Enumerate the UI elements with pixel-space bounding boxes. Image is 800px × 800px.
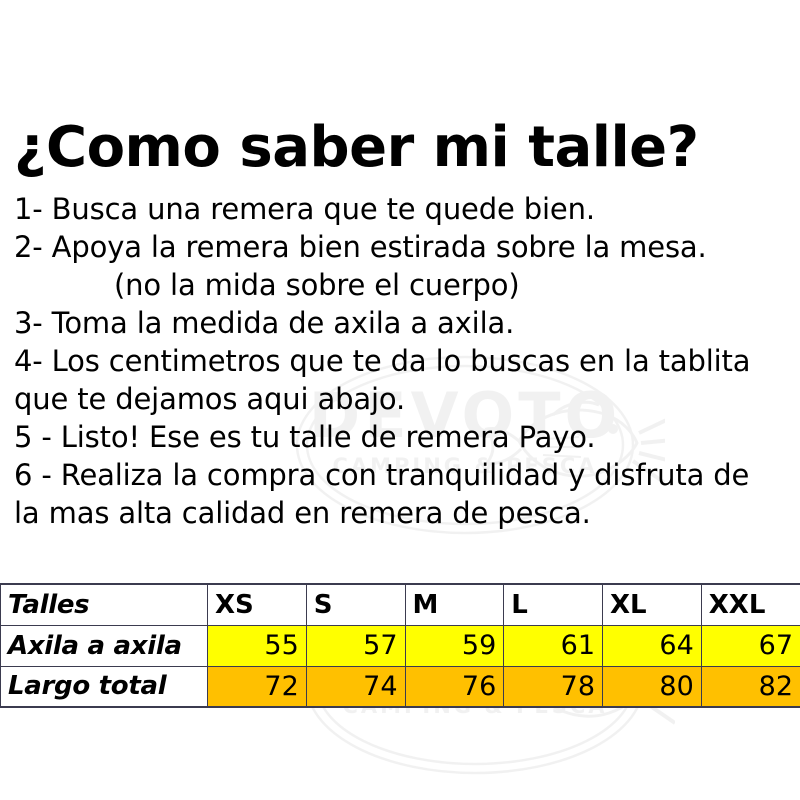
- table-row-label: Largo total: [1, 666, 208, 707]
- table-cell-value: 57: [306, 625, 405, 666]
- table-row-label: Axila a axila: [1, 625, 208, 666]
- table-header-size-xl: XL: [603, 584, 702, 625]
- table-cell-value: 64: [603, 625, 702, 666]
- table-header-row: TallesXSSMLXLXXL: [1, 584, 800, 625]
- table-header-label: Talles: [1, 584, 208, 625]
- table-cell-value: 78: [504, 666, 603, 707]
- instruction-line-1: 1- Busca una remera que te quede bien.: [14, 190, 794, 228]
- table-header-size-l: L: [504, 584, 603, 625]
- table-header-size-m: M: [405, 584, 504, 625]
- instruction-line-7: 5 - Listo! Ese es tu talle de remera Pay…: [14, 418, 794, 456]
- table-cell-value: 61: [504, 625, 603, 666]
- table-cell-value: 82: [701, 666, 800, 707]
- table-header-size-xxl: XXL: [701, 584, 800, 625]
- size-chart-table: TallesXSSMLXLXXLAxila a axila55575961646…: [0, 583, 800, 708]
- table-cell-value: 55: [208, 625, 307, 666]
- table-cell-value: 80: [603, 666, 702, 707]
- instructions-list: 1- Busca una remera que te quede bien.2-…: [14, 190, 794, 532]
- table-row: Largo total727476788082: [1, 666, 800, 707]
- table-row: Axila a axila555759616467: [1, 625, 800, 666]
- table-cell-value: 76: [405, 666, 504, 707]
- size-guide-page: DEVOTO CAMPING & PESCA DEVOTO C: [0, 0, 800, 800]
- table-cell-value: 72: [208, 666, 307, 707]
- instruction-line-5: 4- Los centimetros que te da lo buscas e…: [14, 342, 794, 380]
- instruction-line-8: 6 - Realiza la compra con tranquilidad y…: [14, 456, 794, 494]
- instruction-line-4: 3- Toma la medida de axila a axila.: [14, 304, 794, 342]
- instruction-line-6: que te dejamos aqui abajo.: [14, 380, 794, 418]
- table-cell-value: 67: [701, 625, 800, 666]
- size-chart-body: TallesXSSMLXLXXLAxila a axila55575961646…: [1, 584, 800, 707]
- table-header-size-xs: XS: [208, 584, 307, 625]
- table-cell-value: 59: [405, 625, 504, 666]
- instruction-line-3: (no la mida sobre el cuerpo): [14, 266, 794, 304]
- page-title: ¿Como saber mi talle?: [14, 120, 699, 176]
- table-cell-value: 74: [306, 666, 405, 707]
- table-header-size-s: S: [306, 584, 405, 625]
- instruction-line-2: 2- Apoya la remera bien estirada sobre l…: [14, 228, 794, 266]
- instruction-line-9: la mas alta calidad en remera de pesca.: [14, 494, 794, 532]
